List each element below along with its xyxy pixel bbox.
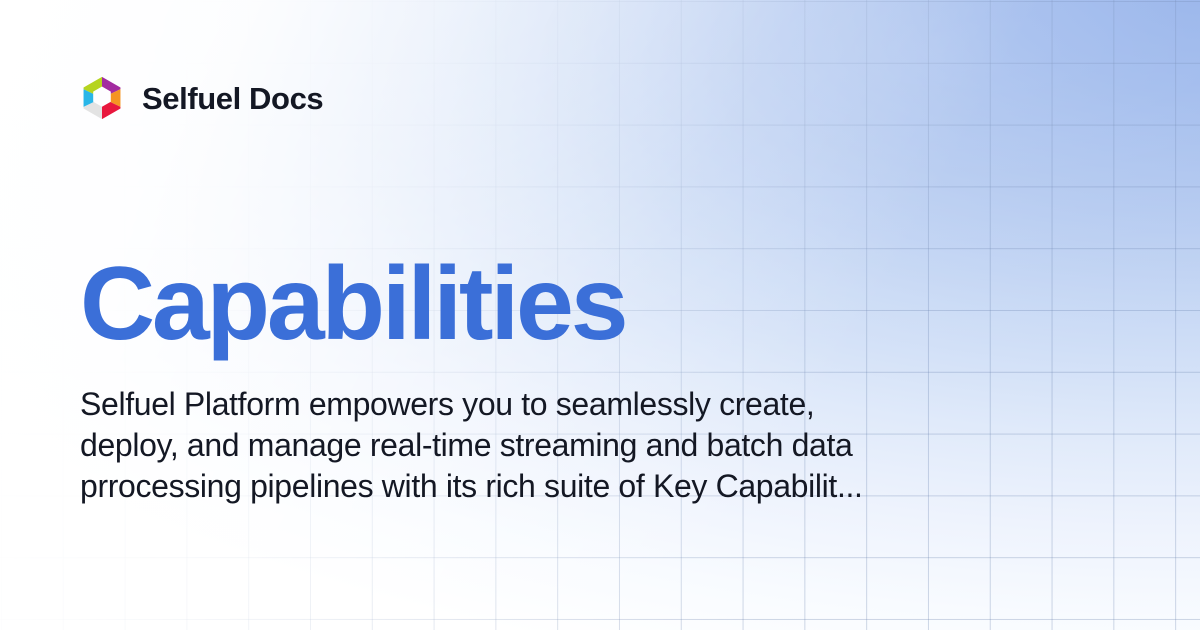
brand-lockup: Selfuel Docs — [80, 74, 1120, 122]
social-share-card: Selfuel Docs Capabilities Selfuel Platfo… — [0, 0, 1200, 630]
page-title: Capabilities — [80, 252, 625, 356]
brand-name: Selfuel Docs — [142, 83, 323, 114]
card-content: Selfuel Docs Capabilities Selfuel Platfo… — [0, 0, 1200, 630]
page-description: Selfuel Platform empowers you to seamles… — [80, 384, 880, 507]
selfuel-hexagon-ring-logo-icon — [80, 76, 124, 120]
